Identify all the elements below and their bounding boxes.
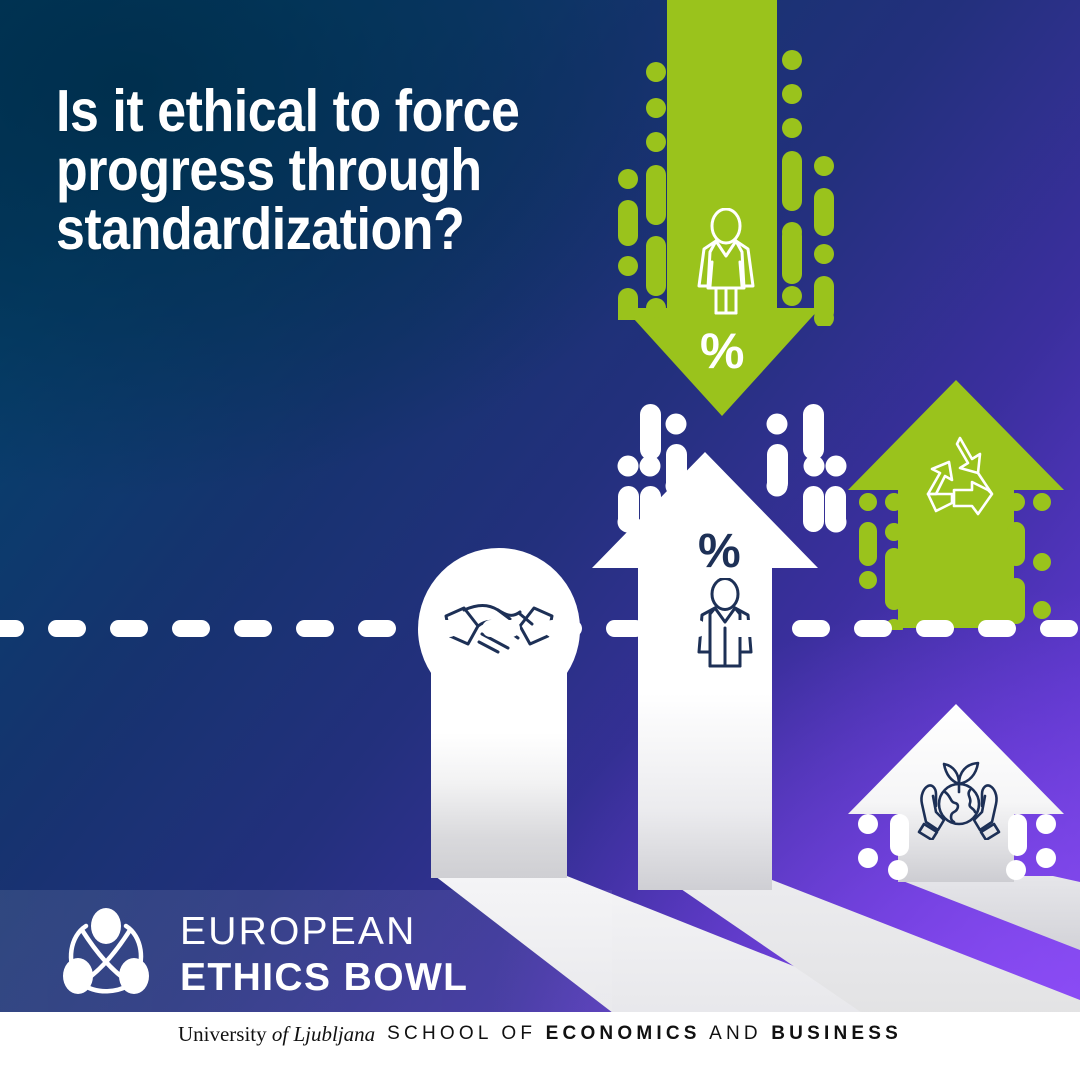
brand-logo: EUROPEAN ETHICS BOWL [52,900,468,1008]
down-arrow-percent-label: % [700,322,744,380]
green-dot-pattern-left [612,60,672,320]
horizon-dash [0,620,24,637]
hands-holding-earth-icon [906,748,1012,840]
horizon-dash [544,620,582,637]
green-dots-recycle-left [858,490,908,630]
horizon-dash [296,620,334,637]
footer-university: University of Ljubljana [178,1022,375,1047]
horizon-dash [854,620,892,637]
atom-people-logo-icon [52,900,160,1008]
horizon-dash [482,620,520,637]
horizon-dash [420,620,458,637]
recycle-icon [916,432,1004,520]
horizon-dash [730,620,768,637]
footer-school-pre: SCHOOL OF [387,1023,545,1044]
green-dots-recycle-right [1004,490,1054,630]
dashed-horizon-line [0,620,1080,637]
up-arrow-percent-label: % [698,524,741,579]
horizon-dash [606,620,644,637]
horizon-dash [1040,620,1078,637]
footer-bar: University of Ljubljana SCHOOL OF ECONOM… [0,1012,1080,1056]
footer-school-mid: AND [701,1023,772,1044]
horizon-dash [48,620,86,637]
poster-canvas: % [0,0,1080,1080]
green-dot-pattern-right [778,46,848,326]
white-dots-earth-left [856,812,912,882]
bottom-fill [0,1056,1080,1080]
horizon-dash [358,620,396,637]
horizon-dash [668,620,706,637]
horizon-dash [234,620,272,637]
footer-school: SCHOOL OF ECONOMICS AND BUSINESS [387,1023,902,1045]
horizon-dash [978,620,1016,637]
horizon-dash [916,620,954,637]
horizon-dash [110,620,148,637]
female-figure-icon [694,208,758,316]
footer-school-economics: ECONOMICS [546,1023,701,1044]
footer-university-text: University [178,1022,272,1046]
page-title: Is it ethical to force progress through … [56,82,549,259]
horizon-dash [172,620,210,637]
logo-line-2: ETHICS BOWL [180,958,468,997]
logo-line-1: EUROPEAN [180,912,468,951]
footer-university-italic: of Ljubljana [272,1022,375,1046]
horizon-dash [792,620,830,637]
footer-school-business: BUSINESS [771,1023,902,1044]
